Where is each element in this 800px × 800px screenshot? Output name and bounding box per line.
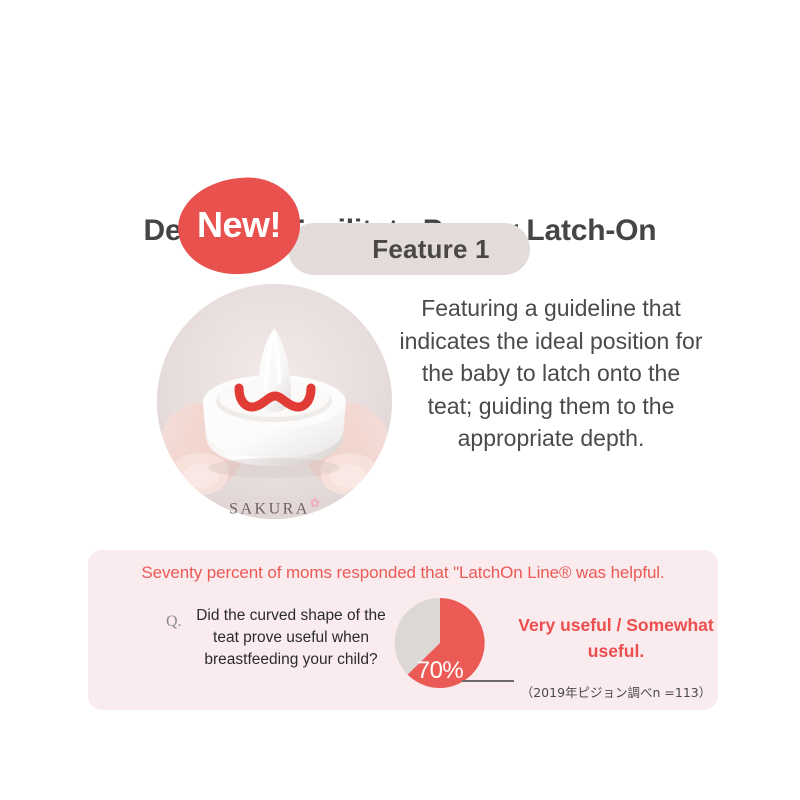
sakura-watermark-text: SAKURA xyxy=(229,500,310,517)
new-badge-label: New! xyxy=(197,207,281,245)
header-row: New! Feature 1 xyxy=(0,88,800,188)
survey-question-text: Did the curved shape of the teat prove u… xyxy=(166,605,398,671)
pie-answer-label: Very useful / Somewhat useful. xyxy=(516,612,716,664)
survey-pie-chart: 70% xyxy=(394,597,510,713)
content-row: SAKURA✿ Featuring a guideline that indic… xyxy=(0,284,800,544)
product-photo xyxy=(157,284,392,519)
survey-question: Did the curved shape of the teat prove u… xyxy=(166,605,398,671)
feature-pill-label: Feature 1 xyxy=(328,234,489,265)
bottle-teat-illustration xyxy=(157,284,392,519)
pie-leader-line xyxy=(462,680,514,682)
new-badge: New! xyxy=(176,175,303,277)
survey-source-note: （2019年ピジョン調べn =113） xyxy=(516,682,716,701)
feature-pill: Feature 1 xyxy=(288,223,530,275)
lead-paragraph: Featuring a guideline that indicates the… xyxy=(398,292,704,455)
sakura-flower-icon: ✿ xyxy=(310,496,320,510)
sakura-watermark: SAKURA✿ xyxy=(157,496,392,518)
survey-panel: Seventy percent of moms responded that "… xyxy=(88,550,718,710)
pie-chart-svg xyxy=(394,597,510,713)
survey-body: Q. Did the curved shape of the teat prov… xyxy=(88,602,718,710)
survey-headline: Seventy percent of moms responded that "… xyxy=(88,563,718,583)
